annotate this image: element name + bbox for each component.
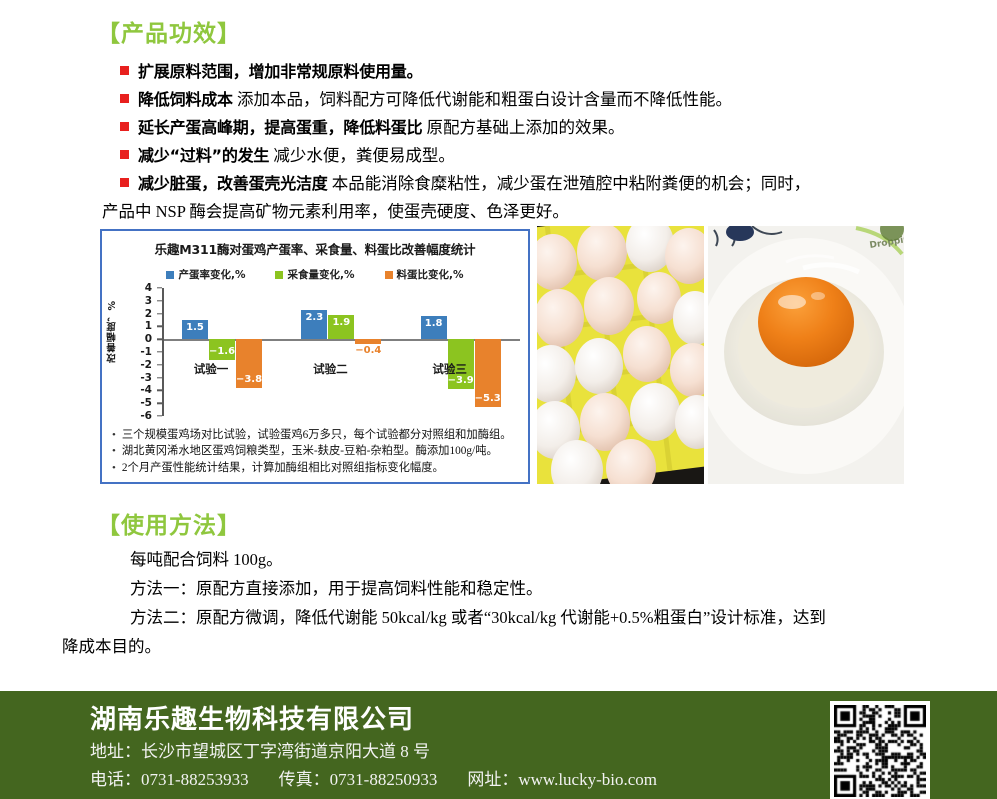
legend-item-0: 产蛋率变化,% bbox=[166, 267, 245, 282]
list-item: 减少“过料”的发生 减少水便，粪便易成型。 bbox=[120, 142, 930, 170]
y-axis-tick-mark bbox=[157, 326, 162, 327]
company-address: 地址：长沙市望城区丁字湾街道京阳大道 8 号 bbox=[90, 737, 430, 762]
y-axis-tick-label: -1 bbox=[126, 346, 152, 358]
square-bullet-icon bbox=[120, 150, 129, 159]
footnote-text: 三个规模蛋鸡场对比试验，试验蛋鸡6万多只，每个试验都分对照组和加酶组。 bbox=[122, 427, 512, 444]
legend-swatch-icon bbox=[166, 271, 174, 279]
chart-footnote-item: •湖北黄冈浠水地区蛋鸡饲粮类型，玉米-麸皮-豆粕-杂粕型。酶添加100g/吨。 bbox=[112, 443, 520, 460]
bullet-lead: 延长产蛋高峰期，提高蛋重，降低料蛋比 bbox=[138, 118, 422, 137]
usage-line: 方法二：原配方微调，降低代谢能 50kcal/kg 或者“30kcal/kg 代… bbox=[97, 603, 917, 632]
y-axis-tick-mark bbox=[157, 351, 162, 352]
legend-item-2: 料蛋比变化,% bbox=[385, 267, 464, 282]
footnote-text: 湖北黄冈浠水地区蛋鸡饲粮类型，玉米-麸皮-豆粕-杂粕型。酶添加100g/吨。 bbox=[122, 443, 498, 460]
list-item: 减少脏蛋，改善蛋壳光洁度 本品能消除食糜粘性，减少蛋在泄殖腔中粘附粪便的机会；同… bbox=[120, 170, 940, 226]
chart-plot-area: 改善幅度，% 43210-1-2-3-4-5-6 1.5−1.6−3.8试验一2… bbox=[102, 288, 528, 416]
square-bullet-icon bbox=[120, 178, 129, 187]
usage-line: 方法一：原配方直接添加，用于提高饲料性能和稳定性。 bbox=[97, 574, 917, 603]
company-phone: 电话：0731-88253933 bbox=[90, 765, 249, 790]
bullet-lead: 降低饲料成本 bbox=[138, 90, 233, 109]
y-axis-tick-label: 3 bbox=[126, 295, 152, 307]
chart-title: 乐趣M311酶对蛋鸡产蛋率、采食量、料蛋比改善幅度统计 bbox=[102, 239, 528, 258]
y-axis-tick-mark bbox=[157, 364, 162, 365]
legend-swatch-icon bbox=[275, 271, 283, 279]
bar-value-label: −1.6 bbox=[205, 346, 239, 357]
company-fax: 传真：0731-88250933 bbox=[279, 765, 438, 790]
bullet-lead: 扩展原料范围，增加非常规原料使用量。 bbox=[138, 62, 422, 81]
bar-value-label: −0.4 bbox=[351, 345, 385, 356]
legend-label: 产蛋率变化,% bbox=[178, 267, 245, 282]
bullet-body: 减少水便，粪便易成型。 bbox=[273, 146, 455, 165]
y-axis-tick-mark bbox=[157, 415, 162, 416]
chart-y-axis-label: 改善幅度，% bbox=[106, 300, 120, 363]
y-axis-tick-mark bbox=[157, 287, 162, 288]
bar-value-label: −5.3 bbox=[471, 393, 505, 404]
y-axis-tick-mark bbox=[157, 313, 162, 314]
y-axis-tick-label: -5 bbox=[126, 397, 152, 409]
list-item: 降低饲料成本 添加本品，饲料配方可降低代谢能和粗蛋白设计含量而不降低性能。 bbox=[120, 86, 930, 114]
category-label: 试验二 bbox=[285, 361, 375, 377]
y-axis-tick-mark bbox=[157, 300, 162, 301]
photo-cracked-egg-orange-yolk: Dropping bbox=[708, 226, 904, 484]
efficacy-bar-chart: 乐趣M311酶对蛋鸡产蛋率、采食量、料蛋比改善幅度统计 产蛋率变化,%采食量变化… bbox=[100, 229, 530, 484]
y-axis-tick-label: -6 bbox=[126, 410, 152, 422]
y-axis-tick-label: -4 bbox=[126, 384, 152, 396]
usage-line: 降成本目的。 bbox=[62, 632, 917, 661]
page-title-usage: 【使用方法】 bbox=[97, 506, 241, 540]
list-item: 扩展原料范围，增加非常规原料使用量。 bbox=[120, 58, 930, 86]
company-contact: 电话：0731-88253933 传真：0731-88250933 网址：www… bbox=[90, 765, 657, 790]
qr-code[interactable] bbox=[830, 701, 930, 799]
bullet-continuation: 产品中 NSP 酶会提高矿物元素利用率，使蛋壳硬度、色泽更好。 bbox=[102, 198, 940, 226]
category-label: 试验三 bbox=[405, 361, 495, 377]
square-bullet-icon bbox=[120, 66, 129, 75]
photo-eggs-in-yellow-tray bbox=[537, 226, 704, 484]
company-name: 湖南乐趣生物科技有限公司 bbox=[90, 699, 414, 736]
y-axis-tick-mark bbox=[157, 402, 162, 403]
square-bullet-icon bbox=[120, 94, 129, 103]
legend-swatch-icon bbox=[385, 271, 393, 279]
bullet-lead: 减少“过料”的发生 bbox=[138, 146, 269, 165]
bullet-body: 添加本品，饲料配方可降低代谢能和粗蛋白设计含量而不降低性能。 bbox=[237, 90, 732, 109]
y-axis-tick-label: 2 bbox=[126, 308, 152, 320]
y-axis-tick-mark bbox=[157, 338, 162, 339]
efficacy-bullet-list: 扩展原料范围，增加非常规原料使用量。 降低饲料成本 添加本品，饲料配方可降低代谢… bbox=[120, 58, 930, 226]
chart-bars-container: 1.5−1.6−3.8试验一2.31.9−0.4试验二1.8−3.9−5.3试验… bbox=[164, 288, 520, 416]
usage-line: 每吨配合饲料 100g。 bbox=[97, 545, 917, 574]
footnote-bullet-icon: • bbox=[112, 443, 116, 460]
y-axis-tick-label: 4 bbox=[126, 282, 152, 294]
bar bbox=[355, 339, 381, 344]
chart-footnote-item: •三个规模蛋鸡场对比试验，试验蛋鸡6万多只，每个试验都分对照组和加酶组。 bbox=[112, 427, 520, 444]
chart-footnotes: •三个规模蛋鸡场对比试验，试验蛋鸡6万多只，每个试验都分对照组和加酶组。•湖北黄… bbox=[112, 427, 520, 477]
bullet-body: 原配方基础上添加的效果。 bbox=[427, 118, 625, 137]
category-label: 试验一 bbox=[166, 361, 256, 377]
usage-instructions: 每吨配合饲料 100g。 方法一：原配方直接添加，用于提高饲料性能和稳定性。 方… bbox=[97, 545, 917, 661]
company-website: 网址：www.lucky-bio.com bbox=[467, 765, 657, 790]
chart-legend: 产蛋率变化,%采食量变化,%料蛋比变化,% bbox=[102, 267, 528, 282]
list-item: 延长产蛋高峰期，提高蛋重，降低料蛋比 原配方基础上添加的效果。 bbox=[120, 114, 930, 142]
y-axis-tick-label: -2 bbox=[126, 359, 152, 371]
bullet-body: 本品能消除食糜粘性，减少蛋在泄殖腔中粘附粪便的机会；同时， bbox=[332, 174, 811, 193]
bar-value-label: 1.8 bbox=[417, 318, 451, 329]
y-axis-tick-label: -3 bbox=[126, 372, 152, 384]
legend-item-1: 采食量变化,% bbox=[275, 267, 354, 282]
y-axis-tick-mark bbox=[157, 377, 162, 378]
bar-value-label: 1.9 bbox=[324, 317, 358, 328]
y-axis-tick-mark bbox=[157, 390, 162, 391]
page-title-efficacy: 【产品功效】 bbox=[97, 14, 241, 48]
square-bullet-icon bbox=[120, 122, 129, 131]
bullet-lead: 减少脏蛋，改善蛋壳光洁度 bbox=[138, 174, 328, 193]
legend-label: 料蛋比变化,% bbox=[397, 267, 464, 282]
product-brochure-page: 【产品功效】 扩展原料范围，增加非常规原料使用量。 降低饲料成本 添加本品，饲料… bbox=[0, 0, 997, 799]
chart-footnote-item: •2个月产蛋性能统计结果，计算加酶组相比对照组指标变化幅度。 bbox=[112, 460, 520, 477]
legend-label: 采食量变化,% bbox=[287, 267, 354, 282]
footnote-bullet-icon: • bbox=[112, 460, 116, 477]
footnote-text: 2个月产蛋性能统计结果，计算加酶组相比对照组指标变化幅度。 bbox=[122, 460, 444, 477]
y-axis-tick-label: 1 bbox=[126, 320, 152, 332]
y-axis-tick-label: 0 bbox=[126, 333, 152, 345]
bar-value-label: 1.5 bbox=[178, 322, 212, 333]
footnote-bullet-icon: • bbox=[112, 427, 116, 444]
